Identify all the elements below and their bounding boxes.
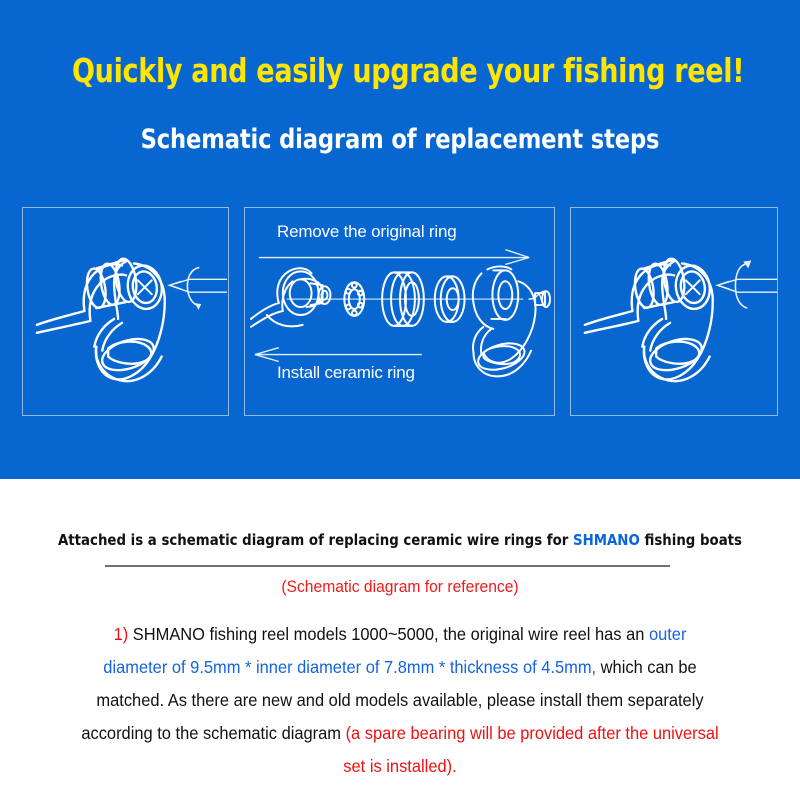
attached-heading: Attached is a schematic diagram of repla…	[56, 531, 744, 549]
page-title: Quickly and easily upgrade your fishing …	[72, 54, 728, 87]
line-roller-after-illustration	[571, 208, 777, 415]
diagram-panel-after	[570, 207, 778, 416]
spec-bearing-note: (a spare bearing will be provided after …	[343, 723, 718, 776]
callout-install-ceramic-ring: Install ceramic ring	[277, 363, 415, 383]
list-marker: 1)	[114, 624, 129, 644]
hero-section: Quickly and easily upgrade your fishing …	[0, 0, 800, 479]
product-infographic: Quickly and easily upgrade your fishing …	[0, 0, 800, 800]
attached-suffix: fishing boats	[640, 531, 742, 549]
page-subtitle: Schematic diagram of replacement steps	[64, 126, 736, 153]
attached-prefix: Attached is a schematic diagram of repla…	[58, 531, 573, 549]
diagram-panel-before	[22, 207, 229, 416]
brand-name: SHMANO	[573, 531, 640, 549]
reference-note: (Schematic diagram for reference)	[32, 577, 768, 597]
arrow-install	[255, 348, 422, 362]
divider	[105, 565, 670, 567]
spec-text-1: SHMANO fishing reel models 1000~5000, th…	[128, 624, 649, 644]
spec-paragraph: 1) SHMANO fishing reel models 1000~5000,…	[80, 618, 719, 783]
arrow-remove	[259, 250, 529, 265]
description-section: Attached is a schematic diagram of repla…	[0, 479, 800, 800]
callout-remove-original-ring: Remove the original ring	[277, 222, 456, 242]
line-roller-before-illustration	[23, 208, 228, 415]
